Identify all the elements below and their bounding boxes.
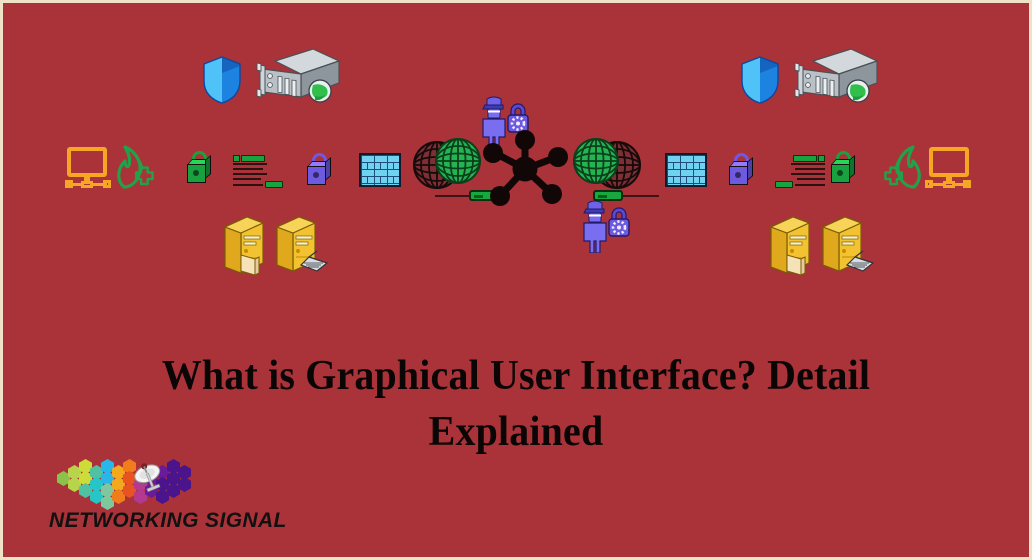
padlock-3d-icon — [185, 151, 215, 185]
padlock-3d-icon — [829, 151, 859, 185]
network-hub-star-icon — [481, 127, 569, 209]
page-title: What is Graphical User Interface? Detail… — [86, 349, 947, 461]
brand-logo[interactable]: NETWORKING SIGNAL — [49, 455, 249, 543]
brick-wall-icon — [665, 153, 707, 187]
security-guard-lock-icon — [578, 199, 630, 253]
globe-pair-icon — [571, 135, 641, 191]
monitor-network-icon — [65, 145, 111, 191]
flame-cross-icon — [111, 143, 155, 189]
flame-cross-icon — [111, 143, 155, 189]
rack-server-globe-icon — [789, 47, 879, 111]
rack-server-globe-icon — [251, 47, 341, 111]
tower-pc-document-icon — [219, 213, 269, 277]
padlock-3d-icon — [727, 153, 757, 187]
globe-pair-icon — [413, 135, 483, 191]
monitor-network-icon — [925, 145, 971, 191]
tower-pc-document-icon — [219, 213, 269, 277]
tower-pc-keyboard-icon — [273, 213, 329, 277]
brick-wall-icon — [359, 153, 401, 187]
tower-pc-keyboard-icon — [819, 213, 875, 277]
rack-server-globe-icon — [251, 47, 341, 111]
shield-icon — [739, 55, 781, 105]
flame-cross-icon — [883, 143, 927, 189]
shield-icon — [739, 55, 781, 105]
checklist-log-icon — [233, 153, 283, 191]
padlock-3d-icon — [305, 153, 335, 187]
satellite-dish-icon — [127, 457, 173, 499]
network-hub-star-icon — [481, 127, 569, 209]
poster-canvas: What is Graphical User Interface? Detail… — [3, 3, 1029, 557]
tower-pc-keyboard-icon — [819, 213, 875, 277]
globe-pair-icon — [571, 135, 641, 191]
shield-icon — [201, 55, 243, 105]
globe-pair-icon — [413, 135, 483, 191]
tower-pc-keyboard-icon — [273, 213, 329, 277]
brand-name: NETWORKING SIGNAL — [49, 509, 249, 533]
flame-cross-icon — [883, 143, 927, 189]
security-guard-lock-icon — [578, 199, 630, 253]
tower-pc-document-icon — [765, 213, 815, 277]
rack-server-globe-icon — [789, 47, 879, 111]
tower-pc-document-icon — [765, 213, 815, 277]
cable-connector-icon — [593, 189, 659, 203]
checklist-log-icon — [775, 153, 825, 191]
shield-icon — [201, 55, 243, 105]
